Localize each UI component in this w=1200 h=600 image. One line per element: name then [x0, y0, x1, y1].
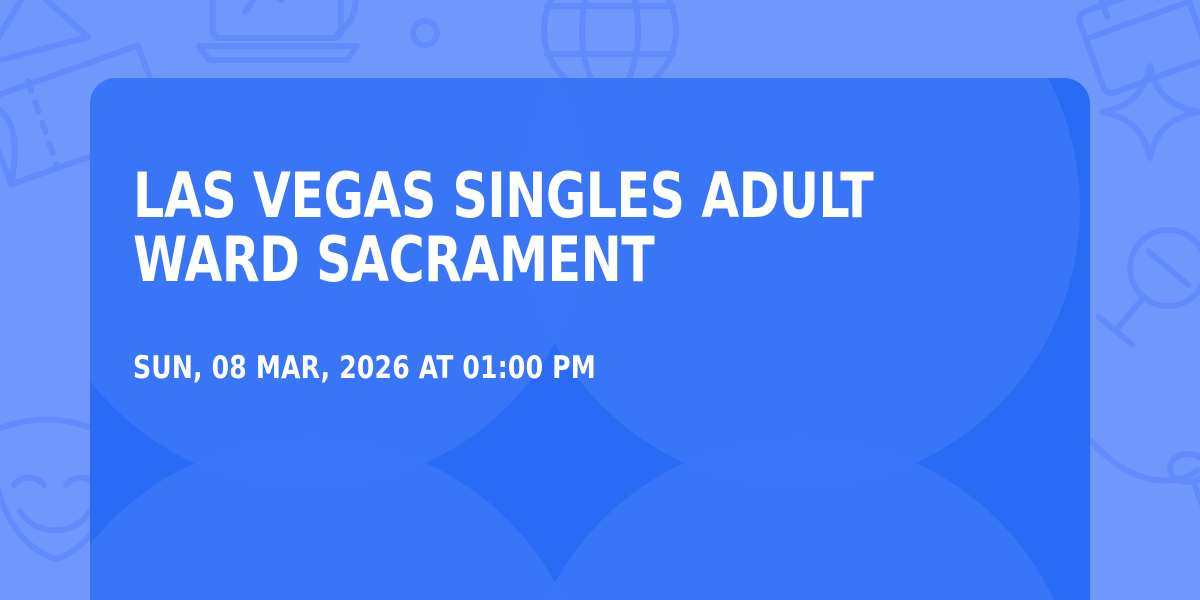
sparkle-icon — [1098, 58, 1200, 168]
balloon-icon — [1080, 430, 1200, 600]
event-datetime: Sun, 08 Mar, 2026 at 01:00 PM — [133, 351, 940, 385]
event-banner: Las Vegas Singles Adult Ward Sacrament S… — [0, 0, 1200, 600]
event-card: Las Vegas Singles Adult Ward Sacrament S… — [90, 78, 1090, 600]
event-title: Las Vegas Singles Adult Ward Sacrament — [133, 164, 922, 293]
card-content: Las Vegas Singles Adult Ward Sacrament S… — [90, 78, 1090, 600]
microphone-icon — [1098, 215, 1200, 365]
sparkle-small-icon — [400, 8, 450, 58]
